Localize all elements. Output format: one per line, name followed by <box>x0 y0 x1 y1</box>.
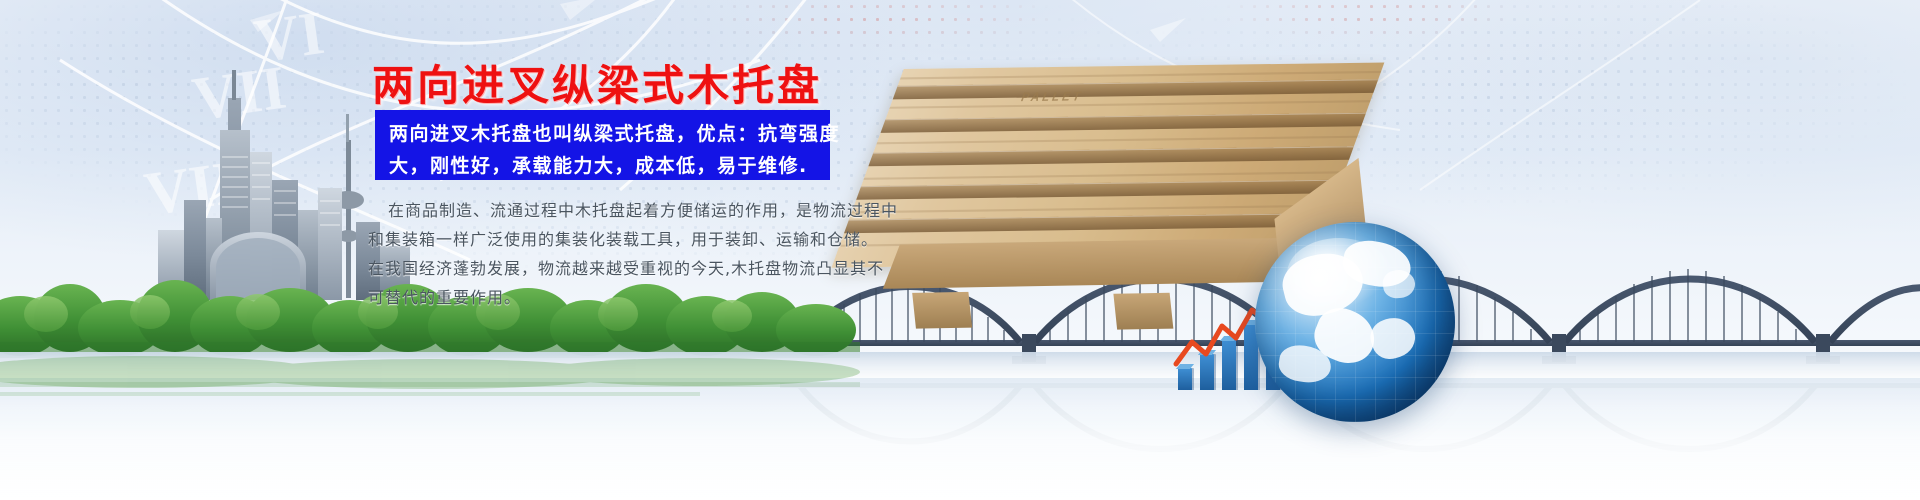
product-banner: VIII VII VI XII XI <box>0 0 1920 500</box>
description-line: 在我国经济蓬勃发展，物流越来越受重视的今天,木托盘物流凸显其不 <box>368 254 848 283</box>
description-line: 在商品制造、流通过程中木托盘起着方便储运的作用，是物流过程中 <box>368 196 848 225</box>
pallet-foot <box>1113 293 1173 330</box>
earth-globe <box>1255 222 1455 422</box>
page-title: 两向进叉纵梁式木托盘 <box>372 52 822 113</box>
horizon-glow <box>0 352 1920 378</box>
highlight-callout-box: 两向进叉木托盘也叫纵梁式托盘，优点：抗弯强度 大，刚性好，承载能力大，成本低，易… <box>375 110 830 180</box>
highlight-line: 大，刚性好，承载能力大，成本低，易于维修. <box>389 150 818 182</box>
pallet-stencil-label: PALLET <box>1019 89 1086 104</box>
pallet-foot <box>912 292 972 329</box>
highlight-line: 两向进叉木托盘也叫纵梁式托盘，优点：抗弯强度 <box>389 118 818 150</box>
svg-text:VII: VII <box>188 54 290 134</box>
globe-highlight <box>1287 238 1391 310</box>
svg-text:VI: VI <box>250 0 328 76</box>
description-line: 可替代的重要作用。 <box>368 283 848 312</box>
description-paragraph: 在商品制造、流通过程中木托盘起着方便储运的作用，是物流过程中 和集装箱一样广泛使… <box>368 196 848 312</box>
description-line: 和集装箱一样广泛使用的集装化装载工具，用于装卸、运输和仓储。 <box>368 225 848 254</box>
svg-text:VIII: VIII <box>140 145 265 229</box>
